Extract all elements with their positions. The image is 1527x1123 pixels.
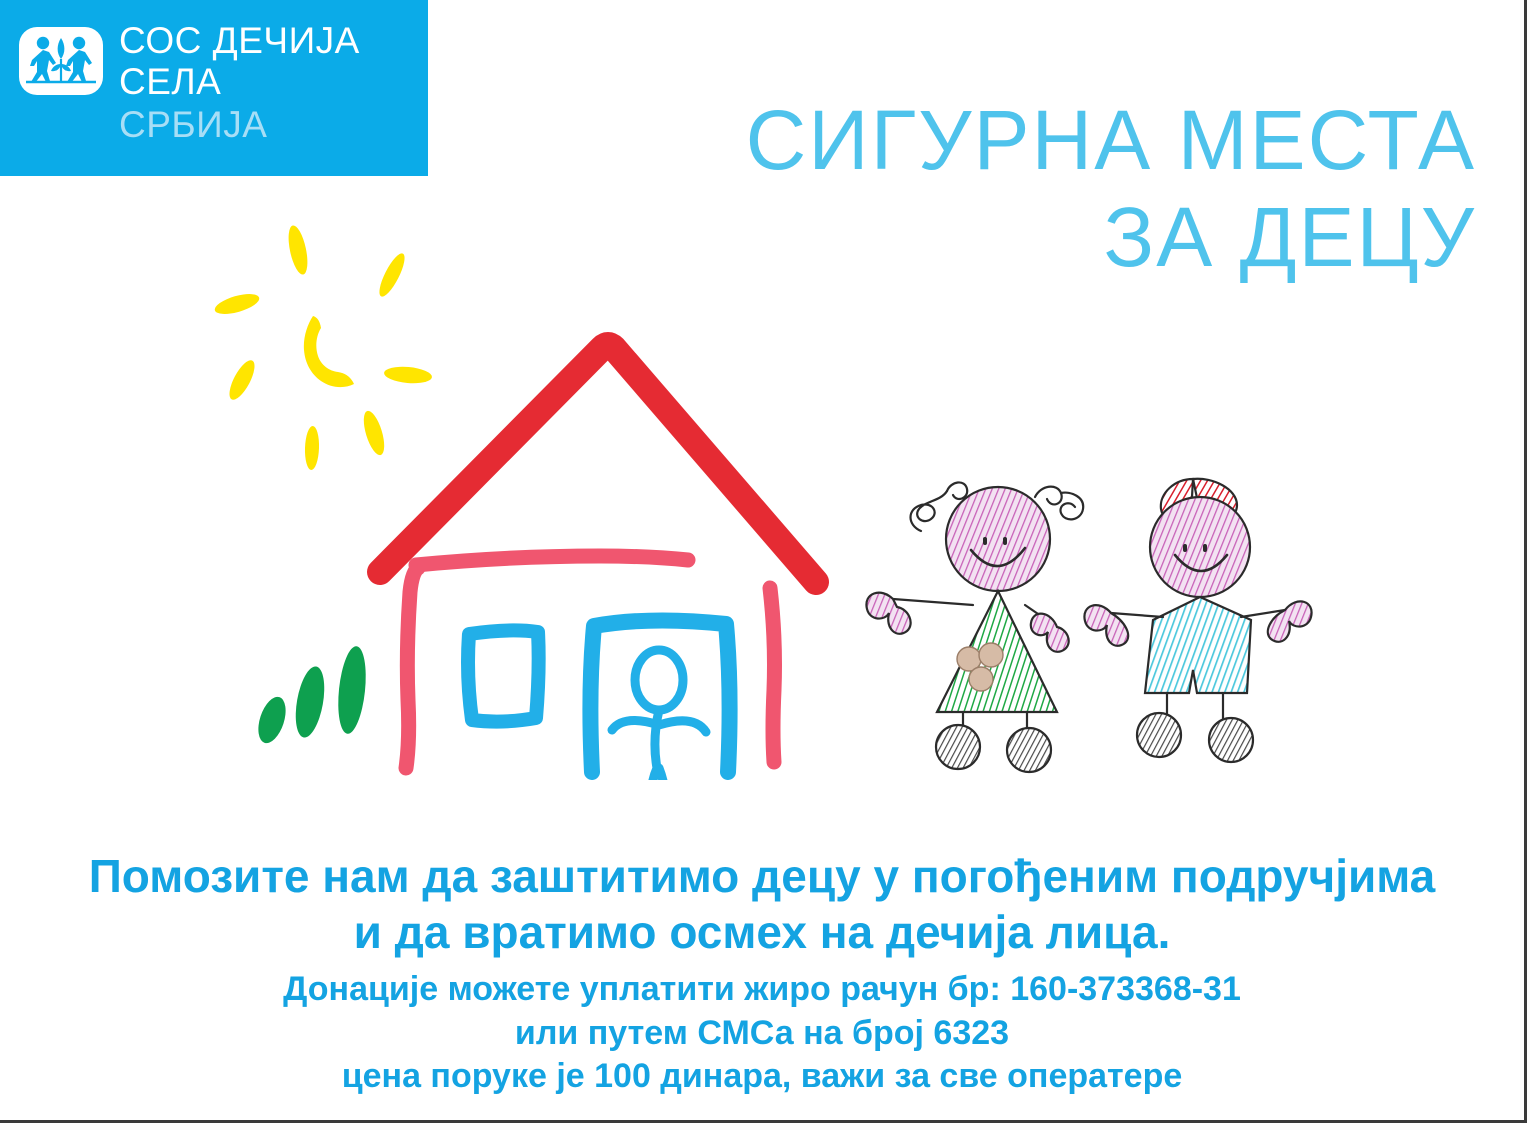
brand-line-1: СОС ДЕЧИЈА — [119, 22, 360, 59]
brand-line-2: СЕЛА — [119, 63, 360, 100]
house-roof — [380, 345, 816, 582]
grass-blades — [253, 645, 369, 747]
two-children-drawing — [845, 435, 1325, 785]
house-window — [468, 630, 539, 721]
message-headline-line-1: Помозите нам да заштитимо децу у погођен… — [0, 848, 1524, 904]
childs-house-drawing — [180, 220, 860, 780]
bank-account-line: Донације можете уплатити жиро рачун бр: … — [0, 968, 1524, 1012]
message-headline-line-2: и да вратимо осмех на дечија лица. — [0, 904, 1524, 960]
sms-number-line: или путем СМСа на број 6323 — [0, 1012, 1524, 1056]
headline-line-1: СИГУРНА МЕСТА — [746, 96, 1476, 185]
donation-message-block: Помозите нам да заштитимо децу у погођен… — [0, 848, 1524, 1099]
house-door — [590, 620, 729, 772]
sun-icon — [213, 224, 433, 470]
brand-wordmark: СОС ДЕЧИЈА СЕЛА СРБИЈА — [119, 22, 360, 143]
child-right-figure — [1084, 479, 1311, 762]
brand-country: СРБИЈА — [119, 106, 360, 143]
sos-childrens-villages-logo-icon — [18, 26, 104, 96]
poster-canvas: СОС ДЕЧИЈА СЕЛА СРБИЈА СИГУРНА МЕСТА ЗА … — [0, 0, 1527, 1123]
child-figure-in-doorway — [612, 650, 706, 780]
sms-price-line: цена поруке је 100 динара, важи за све о… — [0, 1055, 1524, 1099]
brand-header-band: СОС ДЕЧИЈА СЕЛА СРБИЈА — [0, 0, 428, 176]
child-left-figure — [866, 482, 1083, 772]
